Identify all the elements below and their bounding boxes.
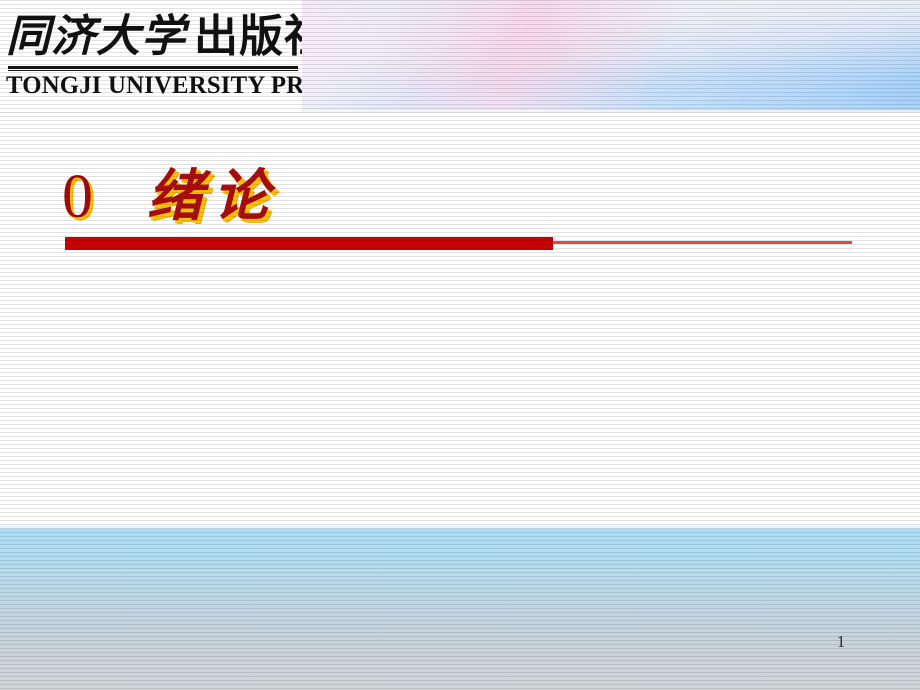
footer-band-top-edge xyxy=(0,524,920,529)
chapter-number: 0 xyxy=(62,162,93,232)
title-rule-thick xyxy=(65,237,553,250)
publisher-logo-chinese-suffix: 出版社 xyxy=(194,11,302,62)
chapter-title-text: 绪论 xyxy=(147,162,279,232)
publisher-logo-divider-thin xyxy=(8,70,298,71)
publisher-logo-english: TONGJI UNIVERSITY PRESS xyxy=(6,72,297,100)
footer-gradient-band xyxy=(0,528,920,690)
publisher-logo-chinese-name: 同济大学 xyxy=(6,11,186,62)
title-rule-thin xyxy=(553,241,852,244)
publisher-logo-divider xyxy=(8,66,298,69)
publisher-logo-chinese: 同济大学出版社 xyxy=(6,12,298,64)
slide-title: 0 绪论 xyxy=(62,158,279,236)
page-number: 1 xyxy=(828,632,854,652)
publisher-logo: 同济大学出版社 TONGJI UNIVERSITY PRESS xyxy=(0,0,302,112)
presentation-slide: 同济大学出版社 TONGJI UNIVERSITY PRESS 0 绪论 1 xyxy=(0,0,920,690)
